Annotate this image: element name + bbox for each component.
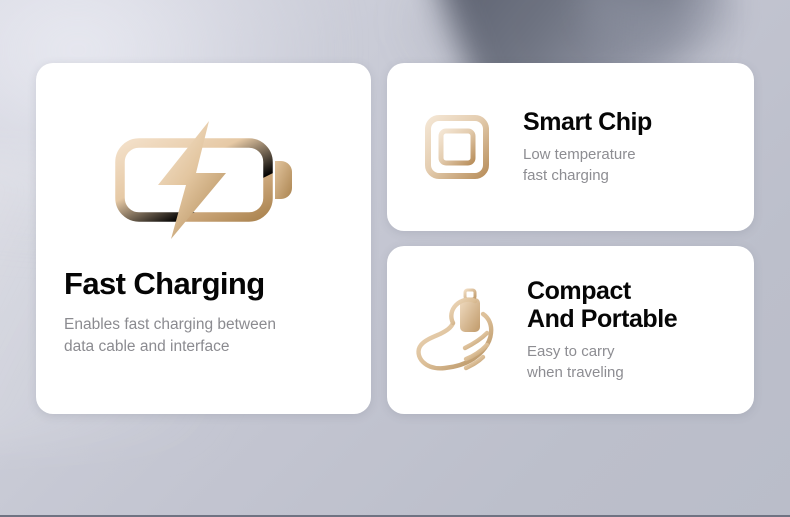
feature-column-left: Fast Charging Enables fast charging betw… <box>36 63 371 414</box>
promo-banner: Fast Charging Enables fast charging betw… <box>0 0 790 517</box>
title-line-1: Compact <box>527 277 631 305</box>
card-description-compact-portable: Easy to carry when traveling <box>527 342 728 383</box>
hand-holding-charger-icon <box>413 280 505 380</box>
card-title-smart-chip: Smart Chip <box>523 108 728 136</box>
compact-portable-text-block: Compact And Portable Easy to carry when … <box>527 277 728 384</box>
battery-bolt-icon <box>64 105 343 255</box>
card-title-compact-portable: Compact And Portable <box>527 277 728 334</box>
description-line-2: data cable and interface <box>64 338 229 355</box>
description-line-2: when traveling <box>527 363 728 384</box>
description-line-2: fast charging <box>523 166 728 187</box>
title-line-2: And Portable <box>527 305 728 333</box>
feature-card-compact-portable[interactable]: Compact And Portable Easy to carry when … <box>387 246 754 414</box>
cpu-chip-icon <box>413 103 501 191</box>
card-description-fast-charging: Enables fast charging between data cable… <box>64 314 343 358</box>
feature-column-right: Smart Chip Low temperature fast charging <box>387 63 754 414</box>
description-line-1: Enables fast charging between <box>64 316 276 333</box>
smart-chip-text-block: Smart Chip Low temperature fast charging <box>523 108 728 187</box>
card-title-fast-charging: Fast Charging <box>64 268 343 301</box>
description-line-1: Low temperature <box>523 146 636 163</box>
card-description-smart-chip: Low temperature fast charging <box>523 145 728 186</box>
feature-card-smart-chip[interactable]: Smart Chip Low temperature fast charging <box>387 63 754 231</box>
feature-card-fast-charging[interactable]: Fast Charging Enables fast charging betw… <box>36 63 371 414</box>
description-line-1: Easy to carry <box>527 343 615 360</box>
feature-card-grid: Fast Charging Enables fast charging betw… <box>0 0 790 515</box>
fast-charging-text-block: Fast Charging Enables fast charging betw… <box>64 268 343 384</box>
